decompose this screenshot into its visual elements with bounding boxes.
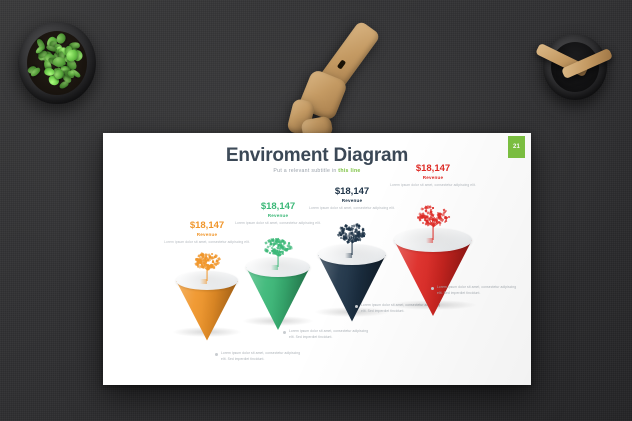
cone-red-tree-icon bbox=[417, 205, 450, 240]
potted-plant bbox=[14, 18, 100, 108]
cone-red-bullet: Lorem ipsum dolor sit amet, consectetur … bbox=[431, 285, 521, 296]
bullet-text: Lorem ipsum dolor sit amet, consectetur … bbox=[437, 285, 521, 296]
revenue-amount: $18,147 bbox=[390, 164, 476, 174]
mockup-scene: 21 Enviroment Diagram Put a relevant sub… bbox=[0, 0, 632, 421]
revenue-caption: Revenue bbox=[390, 175, 476, 180]
label-description: Lorem ipsum dolor sit amet, consectetur … bbox=[390, 183, 476, 188]
tree-canopy bbox=[417, 205, 450, 227]
presentation-slide: 21 Enviroment Diagram Put a relevant sub… bbox=[103, 133, 531, 385]
cone-red-label: $18,147RevenueLorem ipsum dolor sit amet… bbox=[390, 164, 476, 189]
wooden-mannequin-arm bbox=[262, 14, 422, 136]
tree-leaf-cluster bbox=[439, 223, 441, 225]
tree-root-spread bbox=[426, 238, 440, 243]
bullet-dot-icon bbox=[431, 287, 434, 290]
cone-group[interactable]: $18,147RevenueLorem ipsum dolor sit amet… bbox=[103, 133, 531, 385]
cup-with-wooden-sticks bbox=[533, 30, 617, 110]
